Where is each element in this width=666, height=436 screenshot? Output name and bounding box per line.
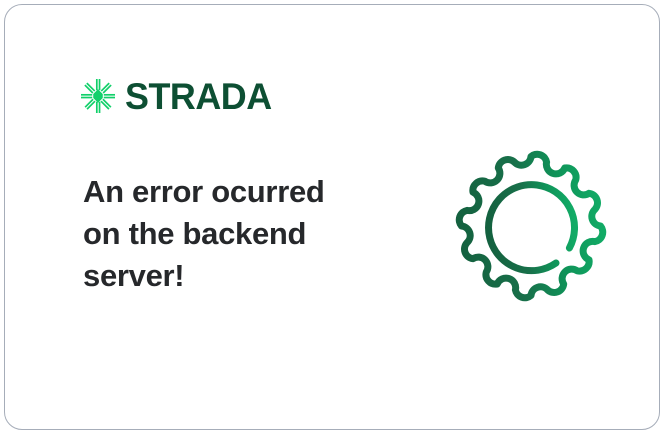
error-message: An error ocurred on the backend server! (83, 171, 373, 297)
error-screen: STRADA An error ocurred on the backend s… (0, 0, 666, 436)
strada-asterisk-icon (81, 79, 115, 113)
brand-wordmark: STRADA (125, 78, 272, 115)
error-card: STRADA An error ocurred on the backend s… (4, 4, 660, 430)
error-message-line: server! (83, 255, 373, 297)
error-message-line: on the backend (83, 213, 373, 255)
error-message-line: An error ocurred (83, 171, 373, 213)
brand-logo: STRADA (81, 75, 276, 117)
gear-illustration (451, 146, 611, 306)
gear-icon (451, 146, 611, 306)
